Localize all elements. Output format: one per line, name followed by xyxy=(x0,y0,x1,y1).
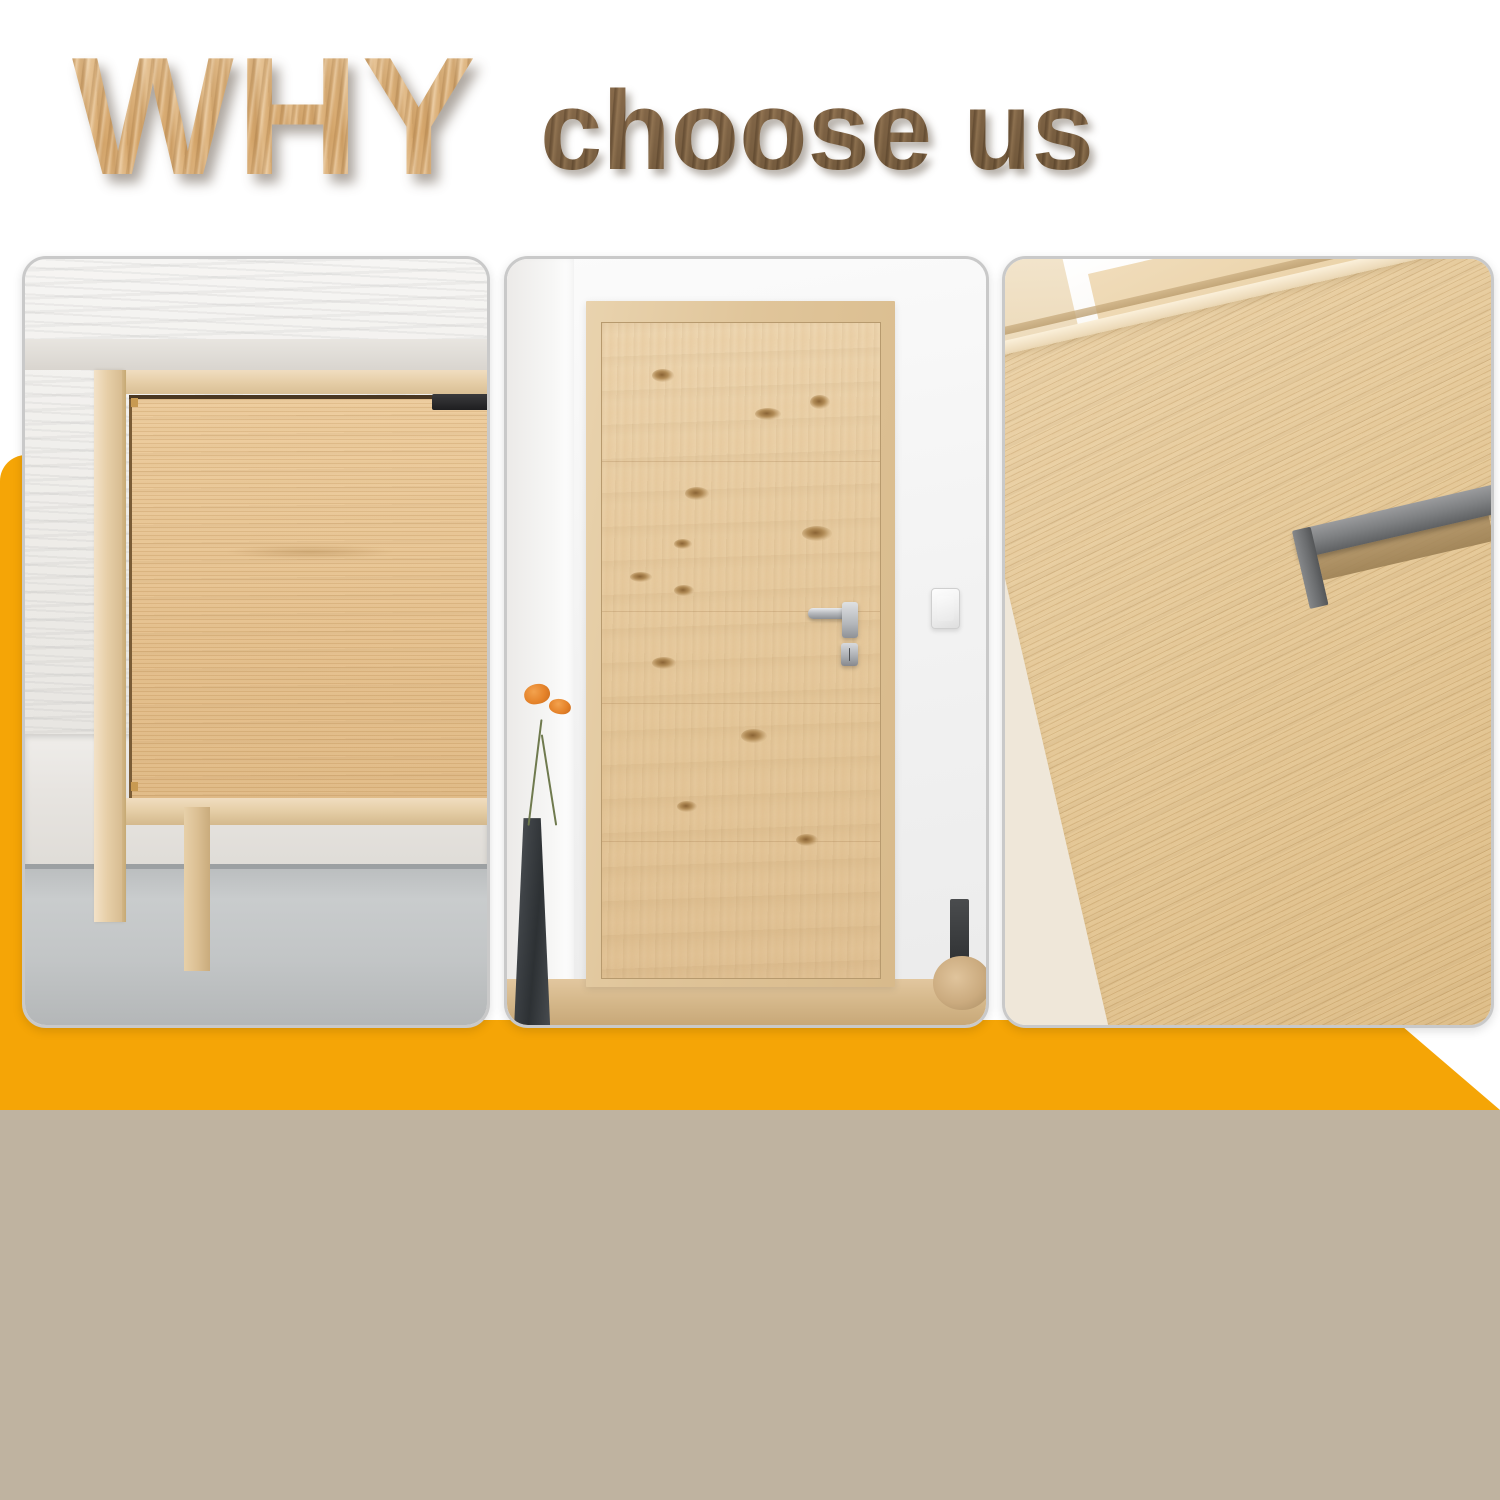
cabinet-top-rail xyxy=(94,370,487,394)
photo-card-birch-sideboard-cabinet[interactable] xyxy=(22,256,490,1028)
cabinet-leg-left xyxy=(94,370,123,922)
features-panel: HIGH QUALITY MATERIAL NATURE BIRCH WOOD … xyxy=(0,1110,1500,1500)
wood-knot-icon xyxy=(796,834,818,846)
wood-knot-icon xyxy=(755,408,781,420)
wood-knot-icon xyxy=(677,801,697,812)
cabinet-bottom-rail xyxy=(94,798,487,825)
photo-birch-drawer-corner-handle xyxy=(1005,259,1491,1025)
wood-knot-icon xyxy=(741,729,767,743)
photo-card-knotty-oak-interior-door[interactable] xyxy=(504,256,989,1028)
door-frame xyxy=(586,301,895,987)
door-lock-escutcheon xyxy=(841,643,858,667)
wood-knot-icon xyxy=(802,526,832,541)
wood-knot-icon xyxy=(810,395,830,409)
wood-knot-icon xyxy=(652,369,674,382)
light-switch xyxy=(931,588,960,628)
wood-knot-icon xyxy=(652,657,676,669)
wood-log-stool xyxy=(933,956,986,1010)
wood-knot-icon xyxy=(674,585,694,596)
cabinet-handle xyxy=(432,394,487,410)
photo-card-birch-drawer-corner-handle[interactable] xyxy=(1002,256,1494,1028)
grain-line xyxy=(602,461,880,462)
handle-rosette xyxy=(842,602,857,638)
cabinet-flap-panel xyxy=(129,395,487,800)
cabinet-leg-middle xyxy=(184,807,210,972)
grain-line xyxy=(602,703,880,704)
grain-line xyxy=(602,841,880,842)
drawer-front-face xyxy=(1005,259,1491,1025)
wood-knot-icon xyxy=(674,539,692,549)
wood-knot-icon xyxy=(685,487,709,500)
hinge-top-icon xyxy=(131,398,138,406)
photo-knotty-oak-interior-door xyxy=(507,259,986,1025)
photo-birch-sideboard-cabinet xyxy=(25,259,487,1025)
hinge-bottom-icon xyxy=(131,782,138,790)
wall-upper-band xyxy=(25,339,487,370)
photo-gallery xyxy=(0,0,1500,1120)
wood-knot-icon xyxy=(630,572,652,582)
oak-door-leaf xyxy=(601,322,881,979)
wood-grain-figure xyxy=(225,544,395,560)
infographic-canvas: WHY choose us xyxy=(0,0,1500,1500)
